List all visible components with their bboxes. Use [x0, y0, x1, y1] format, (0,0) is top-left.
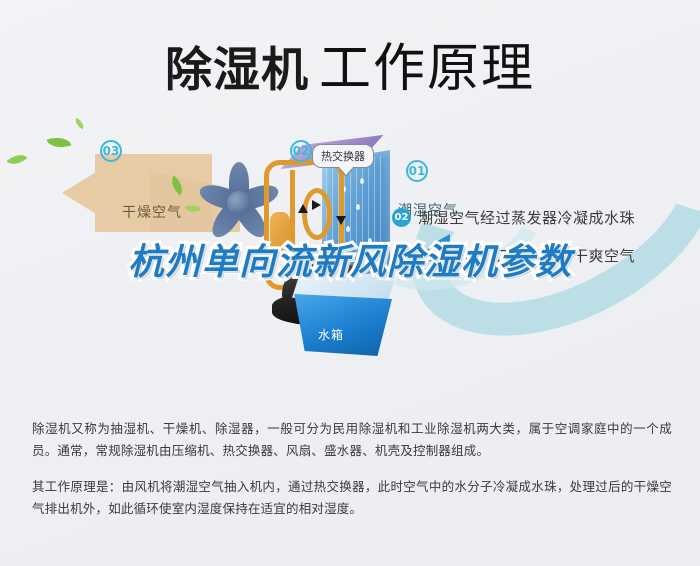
diagram-marker-03: 03 [100, 140, 122, 162]
water-droplet-icon [360, 178, 364, 184]
diagram-marker-02: 02 [290, 140, 312, 162]
refrigerant-pipe-vertical [290, 170, 295, 266]
step-text: 潮湿空气经过蒸发器冷凝成水珠 [418, 207, 635, 228]
paragraph-2: 其工作原理是：由风机将潮湿空气抽入机内，通过热交换器，此时空气中的水分子冷凝成水… [32, 476, 672, 520]
water-tank-label: 水箱 [318, 326, 344, 343]
step-number-badge: 02 [392, 208, 411, 227]
step-number-badge: 03 [392, 246, 411, 265]
title-secondary: 工作原理 [319, 39, 535, 99]
title-primary: 除湿机 [165, 43, 309, 98]
water-tank-unit: 水箱 [288, 290, 398, 362]
dry-air-label: 干燥空气 [122, 202, 182, 222]
step-text: 从上部出风口吹出清新干爽空气 [418, 245, 635, 266]
flow-arrow-down-icon [336, 216, 346, 225]
refrigerant-pipe-loop [302, 188, 332, 240]
flow-arrow-right-icon [312, 200, 321, 210]
flow-arrow-up-icon [298, 204, 308, 213]
list-item: 02 潮湿空气经过蒸发器冷凝成水珠 [392, 198, 692, 236]
paragraph-1: 除湿机又称为抽湿机、干燥机、除湿器，一般可分为民用除湿机和工业除湿机两大类，属于… [32, 418, 672, 462]
step-list: 02 潮湿空气经过蒸发器冷凝成水珠 03 从上部出风口吹出清新干爽空气 [392, 198, 692, 274]
infographic-page: 除湿机工作原理 [0, 0, 700, 566]
water-tank-body [288, 294, 392, 356]
page-title: 除湿机工作原理 [0, 26, 700, 101]
list-item: 03 从上部出风口吹出清新干爽空气 [392, 236, 692, 274]
water-droplet-icon [346, 226, 350, 232]
body-copy: 除湿机又称为抽湿机、干燥机、除湿器，一般可分为民用除湿机和工业除湿机两大类，属于… [32, 418, 672, 520]
heat-exchanger-callout: 热交换器 [312, 144, 374, 168]
water-droplet-icon [356, 204, 360, 210]
refrigerant-accumulator [270, 212, 290, 256]
diagram-marker-01: 01 [406, 160, 428, 182]
leaf-icon [47, 133, 72, 152]
water-droplet-icon [368, 238, 372, 244]
leaf-icon [73, 118, 86, 130]
leaf-icon [7, 150, 28, 170]
